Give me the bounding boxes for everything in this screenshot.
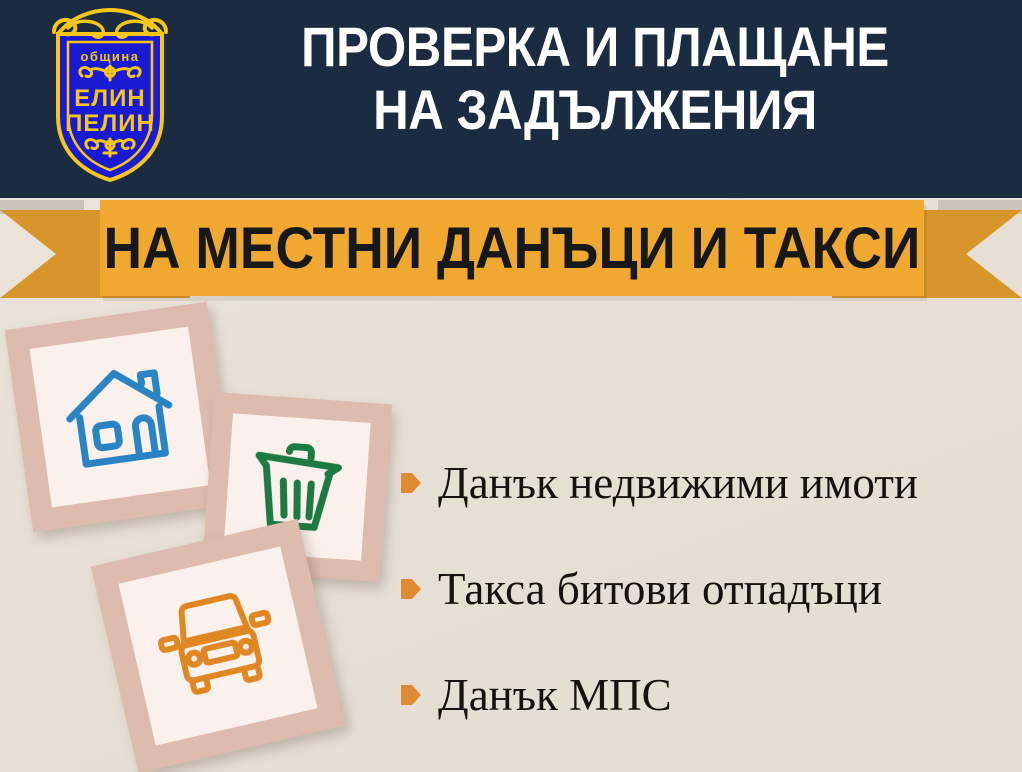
list-item-label: Данък МПС — [438, 673, 672, 718]
list-item[interactable]: Данък МПС — [400, 642, 1010, 748]
bullet-arrow-icon — [400, 576, 422, 602]
stamp-paper — [30, 327, 211, 508]
tax-type-list: Данък недвижими имоти Такса битови отпад… — [400, 430, 1010, 748]
list-item-label: Такса битови отпадъци — [438, 567, 882, 612]
municipality-crest-logo: община ЕЛИН ПЕЛИН — [38, 8, 182, 188]
car-front-icon — [149, 582, 287, 710]
stamp-card-property — [5, 302, 235, 532]
page-title-line-2: НА ЗАДЪЛЖЕНИЯ — [230, 81, 960, 140]
coat-of-arms-icon: община ЕЛИН ПЕЛИН — [38, 8, 182, 188]
list-item[interactable]: Данък недвижими имоти — [400, 430, 1010, 536]
svg-text:община: община — [80, 49, 139, 64]
page-title-line-1: ПРОВЕРКА И ПЛАЩАНЕ — [230, 18, 960, 77]
ribbon-body: НА МЕСТНИ ДАНЪЦИ И ТАКСИ — [100, 200, 924, 296]
svg-text:ЕЛИН: ЕЛИН — [74, 85, 145, 112]
ribbon-banner: НА МЕСТНИ ДАНЪЦИ И ТАКСИ — [0, 196, 1022, 308]
poster-canvas: ПРОВЕРКА И ПЛАЩАНЕ НА ЗАДЪЛЖЕНИЯ община — [0, 0, 1022, 772]
ribbon-label: НА МЕСТНИ ДАНЪЦИ И ТАКСИ — [104, 215, 921, 282]
page-title: ПРОВЕРКА И ПЛАЩАНЕ НА ЗАДЪЛЖЕНИЯ — [230, 18, 960, 140]
list-item-label: Данък недвижими имоти — [438, 461, 918, 506]
svg-text:ПЕЛИН: ПЕЛИН — [65, 110, 155, 137]
list-item[interactable]: Такса битови отпадъци — [400, 536, 1010, 642]
bullet-arrow-icon — [400, 682, 422, 708]
house-icon — [60, 360, 181, 474]
bullet-arrow-icon — [400, 470, 422, 496]
